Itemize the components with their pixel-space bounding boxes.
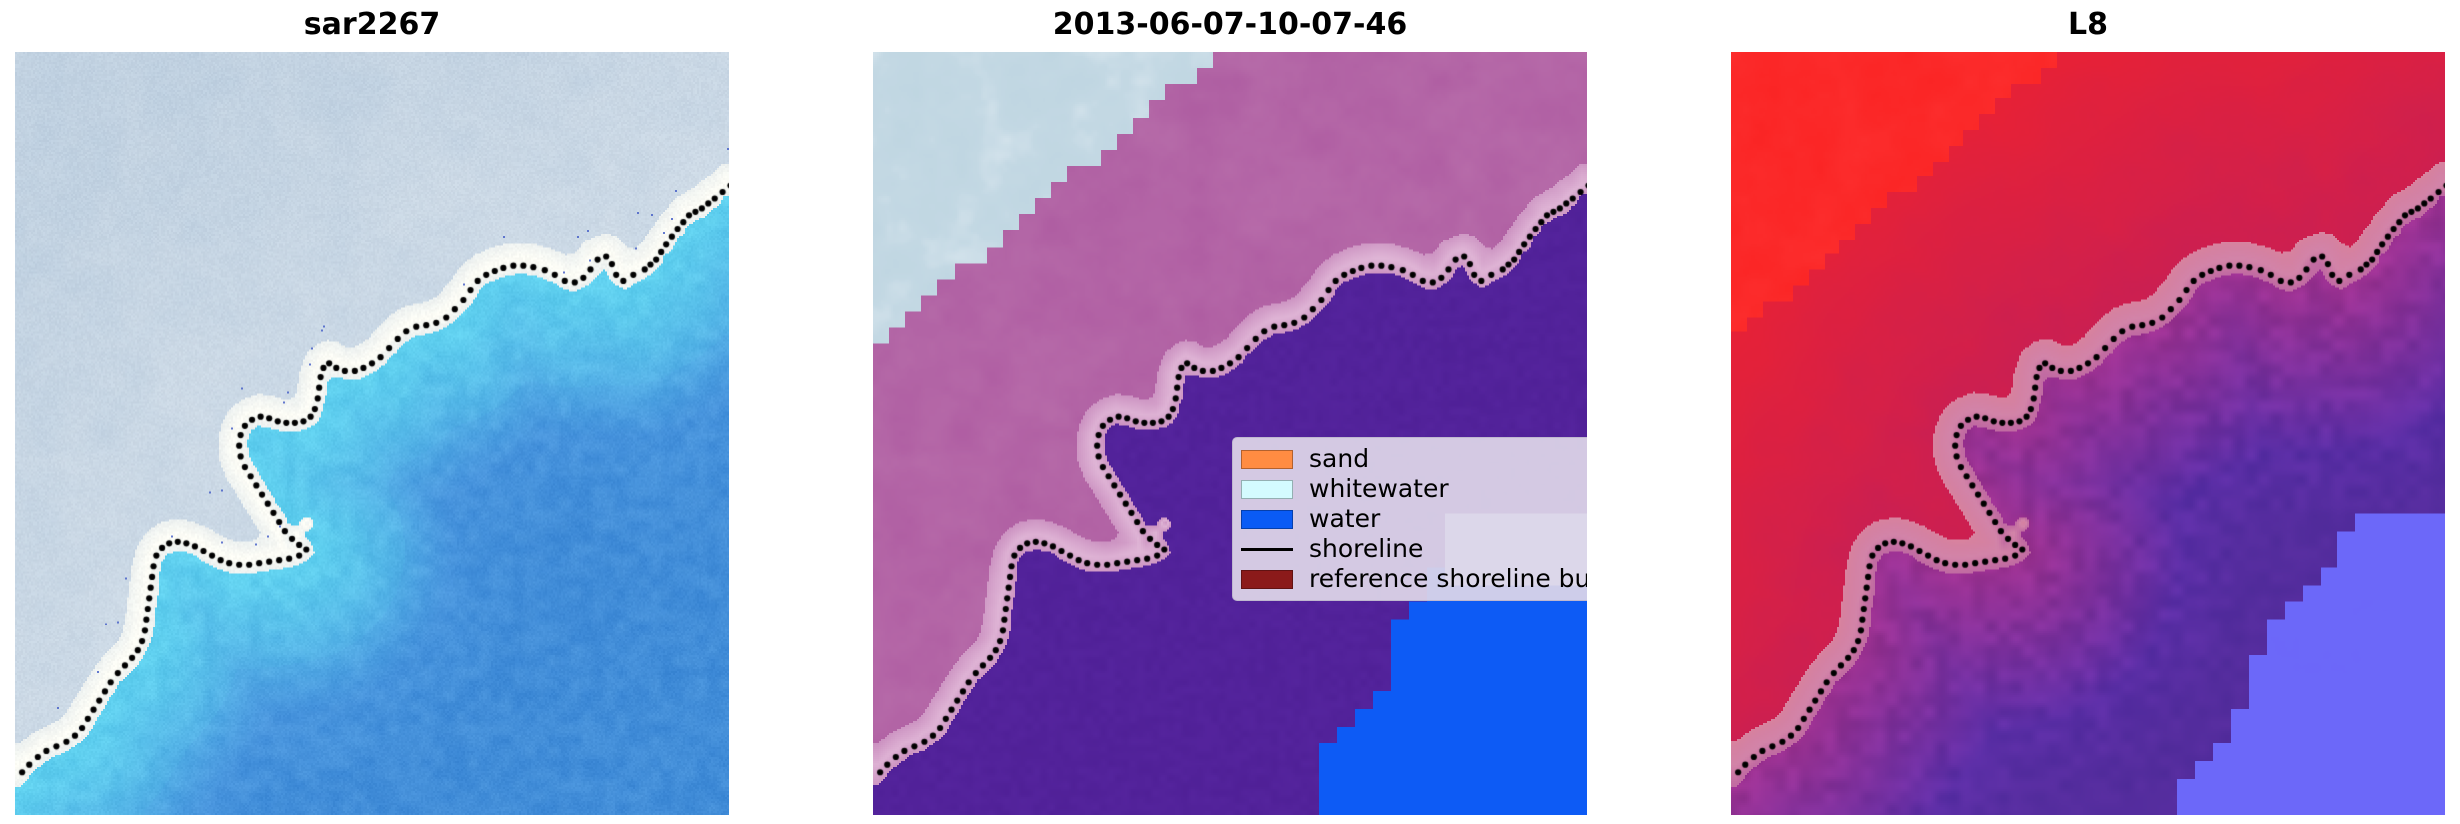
- shoreline-overlay-sar: [15, 52, 729, 815]
- legend-label-sand: sand: [1309, 445, 1369, 473]
- panel-title-sar: sar2267: [15, 8, 729, 42]
- legend-label-whitewater: whitewater: [1309, 475, 1449, 503]
- legend-swatch-water: [1241, 510, 1293, 529]
- legend-label-water: water: [1309, 505, 1380, 533]
- legend-label-shoreline: shoreline: [1309, 535, 1423, 563]
- shoreline-overlay-l8: [1731, 52, 2445, 815]
- panel-title-l8: L8: [1731, 8, 2445, 42]
- legend-label-reference-shoreline-buffer: reference shoreline buffer: [1309, 565, 1587, 593]
- figure-root: sar2267 2013-06-07-10-07-46 sand whitewa…: [0, 0, 2460, 824]
- panel-classified: 2013-06-07-10-07-46 sand whitewater wate…: [873, 52, 1587, 815]
- legend-box[interactable]: sand whitewater water shoreline referenc…: [1232, 437, 1587, 601]
- panel-axes-classified[interactable]: sand whitewater water shoreline referenc…: [873, 52, 1587, 815]
- legend-swatch-reference-shoreline-buffer: [1241, 570, 1293, 589]
- legend-swatch-whitewater: [1241, 480, 1293, 499]
- panel-l8: L8: [1731, 52, 2445, 815]
- legend-item-whitewater[interactable]: whitewater: [1241, 474, 1587, 504]
- legend-item-water[interactable]: water: [1241, 504, 1587, 534]
- legend-item-sand[interactable]: sand: [1241, 444, 1587, 474]
- legend-swatch-sand: [1241, 450, 1293, 469]
- panel-axes-l8[interactable]: [1731, 52, 2445, 815]
- panel-sar: sar2267: [15, 52, 729, 815]
- panel-title-classified: 2013-06-07-10-07-46: [873, 8, 1587, 42]
- legend-item-shoreline[interactable]: shoreline: [1241, 534, 1587, 564]
- shoreline-overlay-classified: [873, 52, 1587, 815]
- legend-item-reference-shoreline-buffer[interactable]: reference shoreline buffer: [1241, 564, 1587, 594]
- panel-axes-sar[interactable]: [15, 52, 729, 815]
- legend-swatch-shoreline: [1241, 548, 1293, 551]
